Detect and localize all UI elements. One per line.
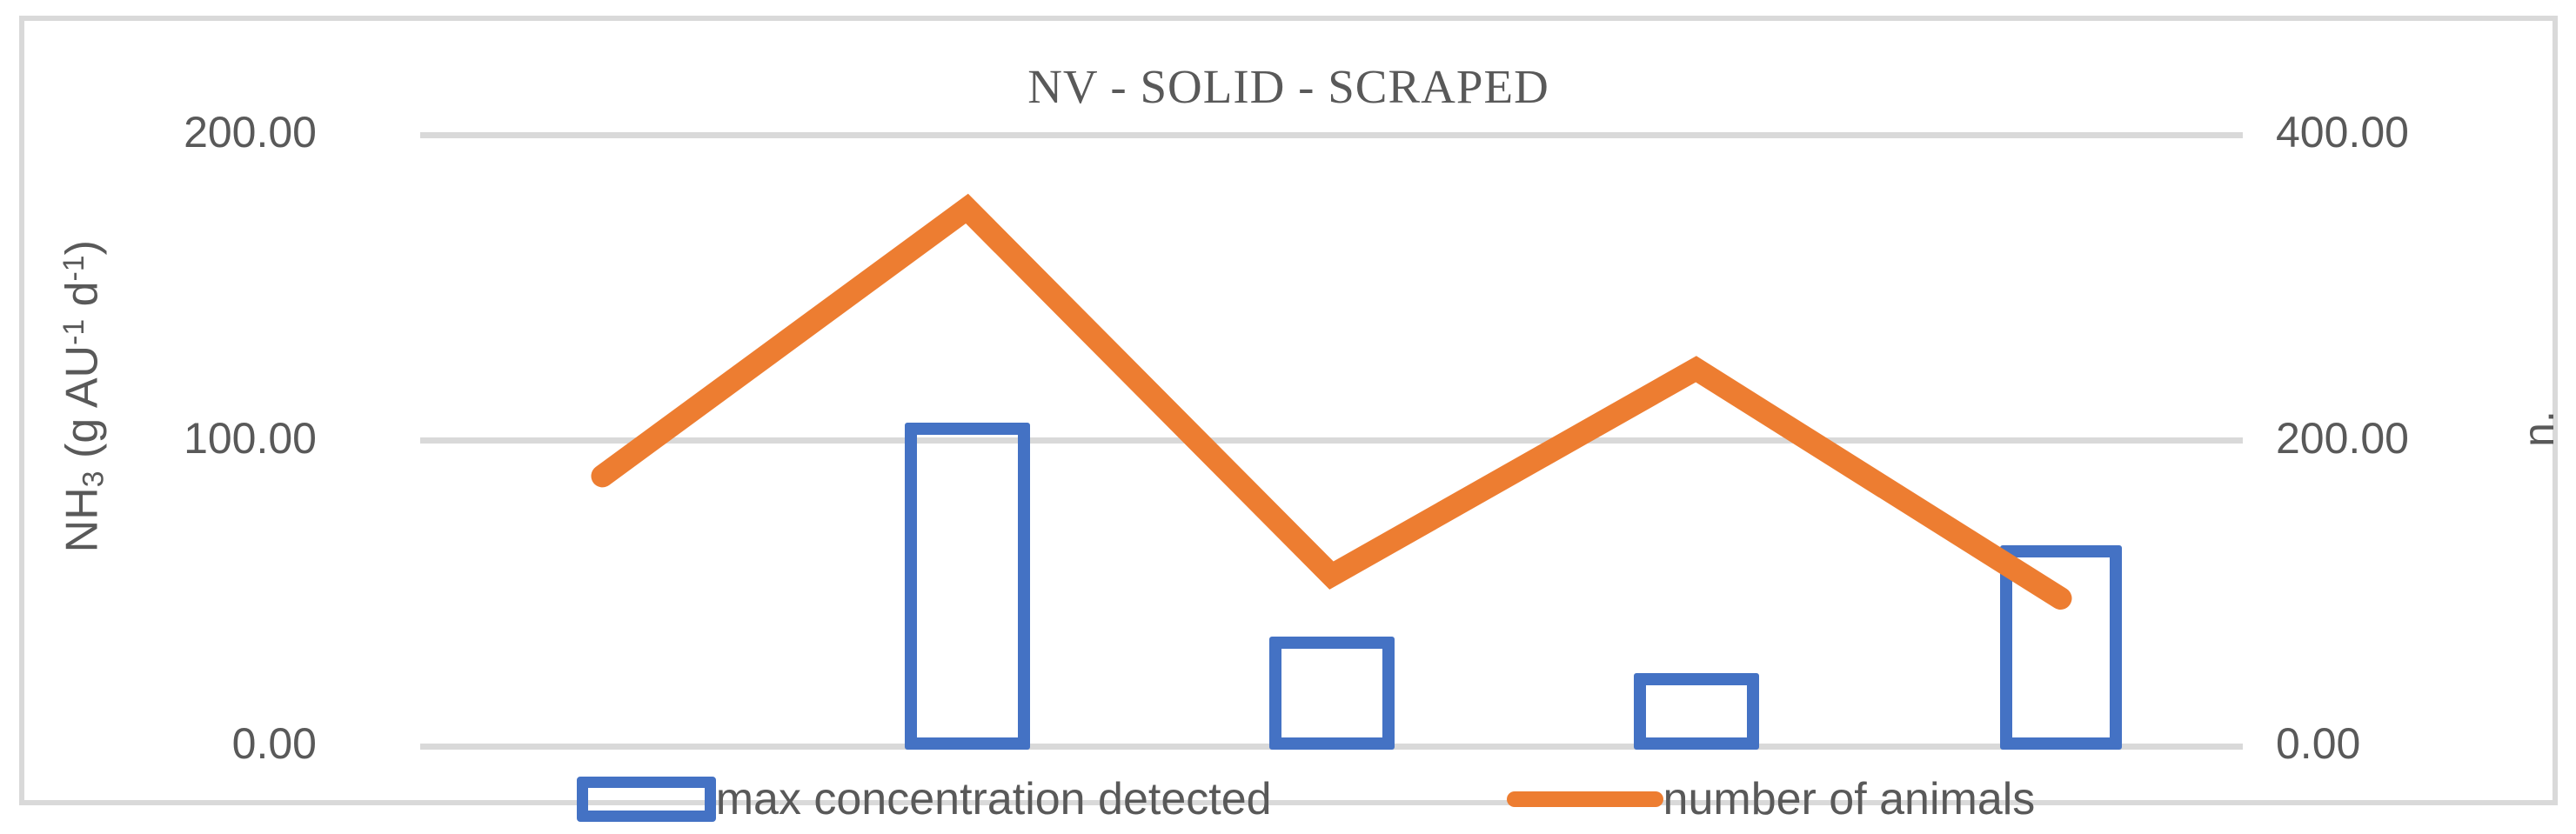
y-axis-right-tick-400: 400.00 bbox=[2276, 110, 2409, 154]
plot-area bbox=[420, 132, 2243, 750]
y-axis-right-tick-200: 200.00 bbox=[2276, 417, 2409, 460]
legend-line-swatch-icon bbox=[1507, 791, 1663, 807]
y-axis-left-title: NH3 (g AU-1 d-1) bbox=[56, 153, 110, 640]
y-axis-right-title: n. bbox=[2513, 377, 2564, 481]
legend-item-max-concentration-detected[interactable]: max concentration detected bbox=[577, 773, 1272, 825]
chart-frame: NV - SOLID - SCRAPED 200.00 100.00 0.00 … bbox=[19, 16, 2558, 805]
line-path[interactable] bbox=[603, 209, 2061, 598]
y-axis-right-tick-0: 0.00 bbox=[2276, 722, 2360, 765]
y-axis-left-tick-0: 0.00 bbox=[232, 722, 317, 765]
legend-item-number-of-animals[interactable]: number of animals bbox=[1507, 773, 2036, 825]
legend-label-max-concentration-detected: max concentration detected bbox=[716, 773, 1272, 825]
chart-title: NV - SOLID - SCRAPED bbox=[24, 59, 2553, 114]
line-series-number-of-animals bbox=[420, 132, 2243, 750]
y-axis-left-tick-200: 200.00 bbox=[184, 110, 317, 154]
chart-legend: max concentration detected number of ani… bbox=[24, 764, 2553, 834]
y-axis-left-tick-100: 100.00 bbox=[184, 417, 317, 460]
legend-label-number-of-animals: number of animals bbox=[1663, 773, 2036, 825]
legend-bar-swatch-icon bbox=[577, 777, 716, 822]
